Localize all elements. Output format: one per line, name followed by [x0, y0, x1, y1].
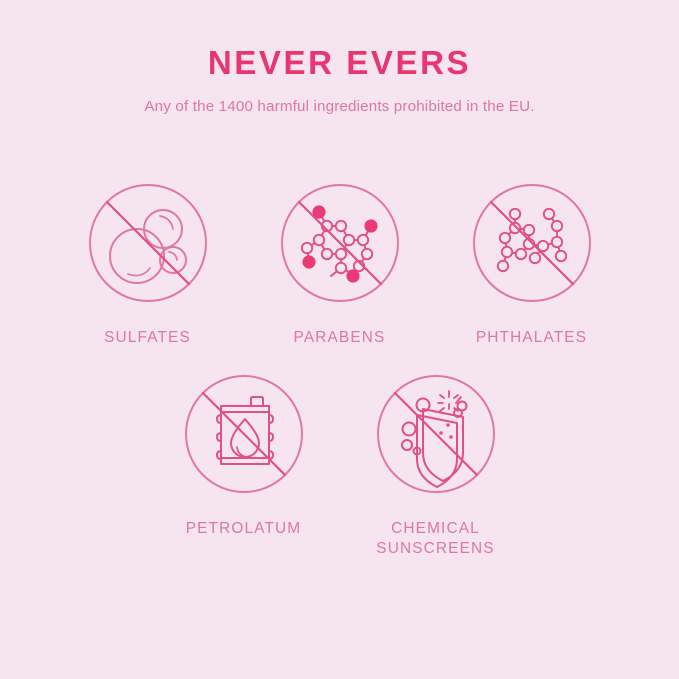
- never-evers-poster: NEVER EVERS Any of the 1400 harmful ingr…: [0, 0, 679, 679]
- never-ever-item-parabens: PARABENS: [244, 180, 436, 348]
- never-ever-item-petrolatum: PETROLATUM: [148, 371, 340, 560]
- icon-row-1: SULFATES: [0, 180, 679, 348]
- no-phthalates-molecule-icon: [469, 180, 595, 306]
- no-chemical-sunscreens-shield-icon: [373, 371, 499, 497]
- no-sulfates-bubbles-icon: [85, 180, 211, 306]
- never-ever-item-chemical-sunscreens: CHEMICAL SUNSCREENS: [340, 371, 532, 560]
- never-ever-item-phthalates: PHTHALATES: [436, 180, 628, 348]
- item-label: CHEMICAL SUNSCREENS: [376, 519, 494, 560]
- item-label: PARABENS: [294, 328, 386, 348]
- item-label: SULFATES: [104, 328, 191, 348]
- no-petrolatum-barrel-icon: [181, 371, 307, 497]
- page-subtitle: Any of the 1400 harmful ingredients proh…: [144, 98, 534, 116]
- icon-row-2: PETROLATUM: [0, 371, 679, 560]
- item-label: PHTHALATES: [476, 328, 587, 348]
- never-ever-item-sulfates: SULFATES: [52, 180, 244, 348]
- no-parabens-molecule-icon: [277, 180, 403, 306]
- item-label: PETROLATUM: [186, 519, 302, 539]
- page-title: NEVER EVERS: [208, 46, 471, 79]
